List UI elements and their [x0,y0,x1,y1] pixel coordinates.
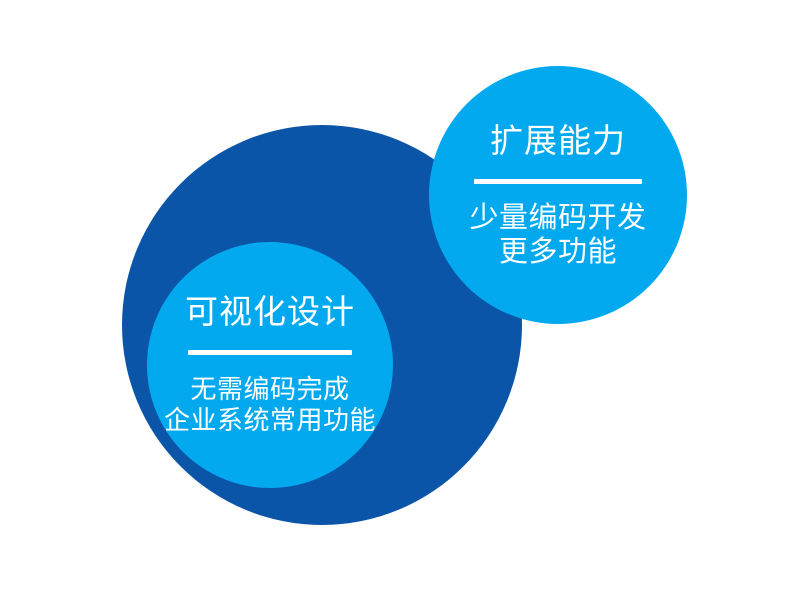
primary-circle-divider [188,350,352,355]
secondary-circle-body: 少量编码开发 更多功能 [469,201,646,269]
infographic-canvas: 扩展能力 少量编码开发 更多功能 可视化设计 无需编码完成 企业系统常用功能 [0,0,800,600]
secondary-circle-body-line-2: 更多功能 [469,235,646,269]
secondary-circle-title: 扩展能力 [490,123,626,160]
primary-circle-title: 可视化设计 [185,294,355,331]
primary-circle-body-line-1: 无需编码完成 [164,374,376,405]
primary-circle-body: 无需编码完成 企业系统常用功能 [164,374,376,436]
secondary-circle-content: 扩展能力 少量编码开发 更多功能 [429,66,687,324]
secondary-circle-body-line-1: 少量编码开发 [469,201,646,235]
primary-circle-content: 可视化设计 无需编码完成 企业系统常用功能 [147,242,393,488]
secondary-circle-divider [474,179,642,184]
primary-circle-body-line-2: 企业系统常用功能 [164,405,376,436]
